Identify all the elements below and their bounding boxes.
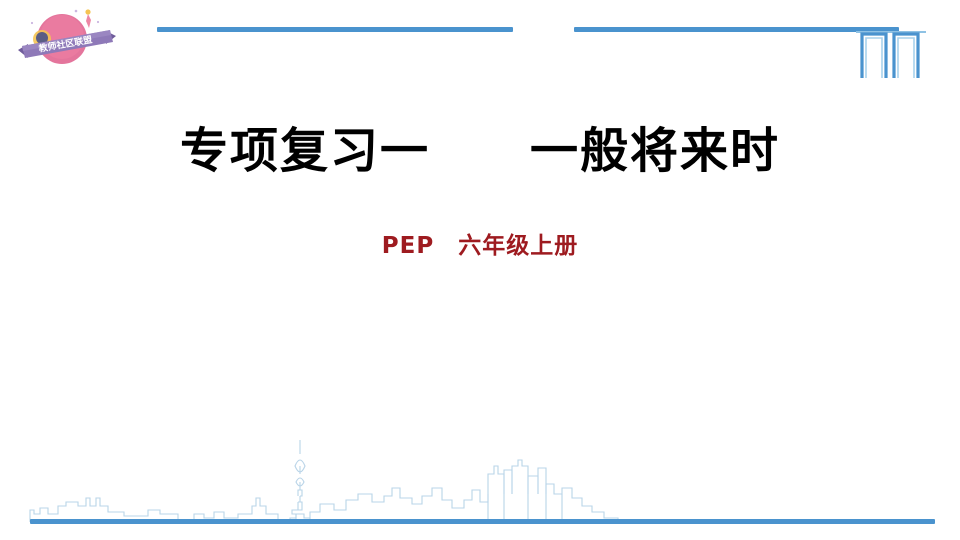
logo-icon: 教师社区联盟 (14, 6, 122, 78)
page-title: 专项复习一 一般将来时 (0, 124, 960, 179)
city-skyline-decoration (28, 440, 628, 525)
bottom-rule (30, 519, 935, 524)
top-rule-left (157, 27, 513, 32)
logo-badge: 教师社区联盟 (14, 6, 122, 78)
presentation-slide: 教师社区联盟 专项复习一 一般将来时 PEP 六年级上册 (0, 0, 960, 540)
bracket-motif-icon (856, 24, 926, 80)
top-rule-right (574, 27, 899, 32)
page-subtitle: PEP 六年级上册 (0, 226, 960, 260)
